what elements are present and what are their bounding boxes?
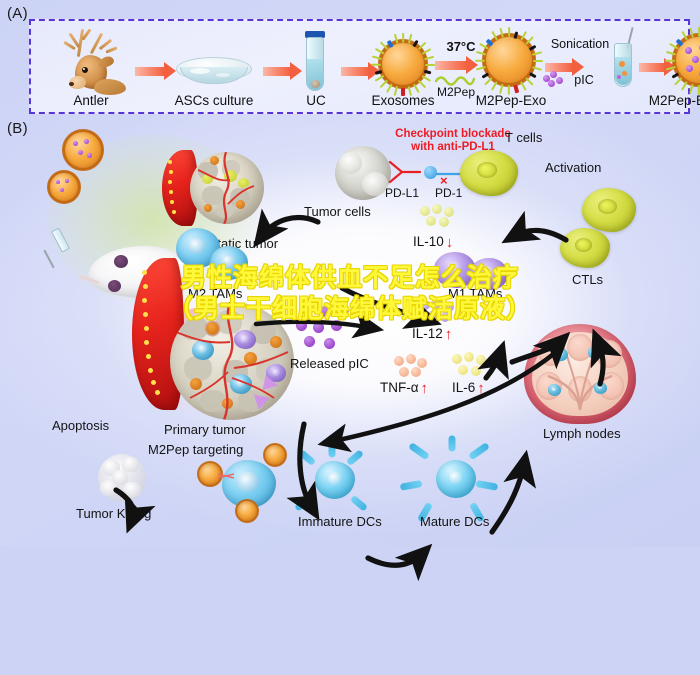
antler-illustration (49, 27, 133, 93)
antler-label: Antler (43, 93, 139, 108)
exosomes-label: Exosomes (371, 93, 435, 108)
m2pep-exo-label: M2Pep-Exo (471, 93, 551, 108)
process-arrows (0, 128, 700, 675)
panel-a-label: (A) (7, 5, 28, 22)
m2pep-exosome-particle (483, 34, 535, 86)
arrow-sonication-to-product (639, 63, 665, 72)
exosome-particle (379, 40, 427, 88)
m2pep-exo-pic-label: M2Pep-Exo(pIC) (641, 93, 700, 108)
scheme-figure: (A) Antler (0, 0, 700, 547)
sonication-label: Sonication (543, 37, 617, 51)
ascs-culture-label: ASCs culture (173, 93, 255, 108)
uc-illustration (301, 31, 329, 93)
arrow-culture-to-uc (263, 67, 291, 76)
panel-a-container: Antler ASCs culture UC Exosomes 37°C (29, 19, 690, 114)
m2pep-exosome-pic-particle (673, 34, 700, 86)
pic-dots-icon (543, 71, 567, 87)
ascs-culture-illustration (176, 51, 252, 91)
uc-label: UC (287, 93, 345, 108)
sonicator-illustration (609, 27, 639, 91)
arrow-antler-to-culture (135, 67, 165, 76)
arrow-exosomes-to-m2pepexo (435, 61, 467, 70)
panel-b-container: Metastatic tumor Tumor cells Checkpoint … (0, 128, 700, 547)
arrow-uc-to-exosomes (341, 67, 369, 76)
pic-label: pIC (569, 73, 599, 87)
m2pep-squiggle-icon (435, 73, 475, 85)
